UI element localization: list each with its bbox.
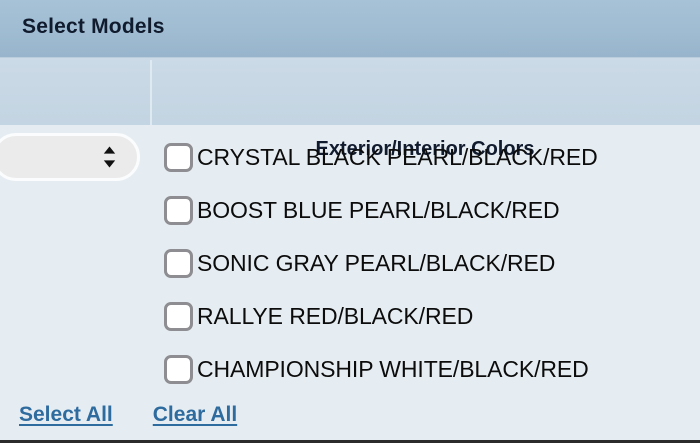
color-option-checkbox[interactable] xyxy=(164,302,193,331)
up-down-chevron-icon xyxy=(102,145,117,169)
color-option-checkbox[interactable] xyxy=(164,355,193,384)
color-option-label: CRYSTAL BLACK PEARL/BLACK/RED xyxy=(197,146,598,169)
panel-titlebar: Select Models xyxy=(0,0,700,58)
color-option-checkbox[interactable] xyxy=(164,196,193,225)
color-option-checkbox[interactable] xyxy=(164,143,193,172)
color-option-row[interactable]: SONIC GRAY PEARL/BLACK/RED xyxy=(164,243,555,283)
color-option-label: BOOST BLUE PEARL/BLACK/RED xyxy=(197,199,560,222)
color-option-label: SONIC GRAY PEARL/BLACK/RED xyxy=(197,252,555,275)
clear-all-link[interactable]: Clear All xyxy=(153,403,237,427)
color-option-label: CHAMPIONSHIP WHITE/BLACK/RED xyxy=(197,358,589,381)
color-option-row[interactable]: BOOST BLUE PEARL/BLACK/RED xyxy=(164,190,560,230)
table-column-header-row: Options Exterior/Interior Colors xyxy=(0,58,700,125)
bulk-action-links: Select All Clear All xyxy=(19,403,237,427)
color-option-checkbox[interactable] xyxy=(164,249,193,278)
color-option-row[interactable]: CRYSTAL BLACK PEARL/BLACK/RED xyxy=(164,137,598,177)
color-option-label: RALLYE RED/BLACK/RED xyxy=(197,305,473,328)
color-option-row[interactable]: RALLYE RED/BLACK/RED xyxy=(164,296,473,336)
select-models-panel: Select Models Options Exterior/Interior … xyxy=(0,0,700,443)
colors-column: CRYSTAL BLACK PEARL/BLACK/RED BOOST BLUE… xyxy=(150,125,700,440)
column-divider xyxy=(150,60,152,125)
panel-title: Select Models xyxy=(22,15,165,39)
color-option-row[interactable]: CHAMPIONSHIP WHITE/BLACK/RED xyxy=(164,349,589,389)
model-select-dropdown[interactable] xyxy=(0,133,140,181)
select-all-link[interactable]: Select All xyxy=(19,403,113,427)
options-column xyxy=(0,125,150,440)
